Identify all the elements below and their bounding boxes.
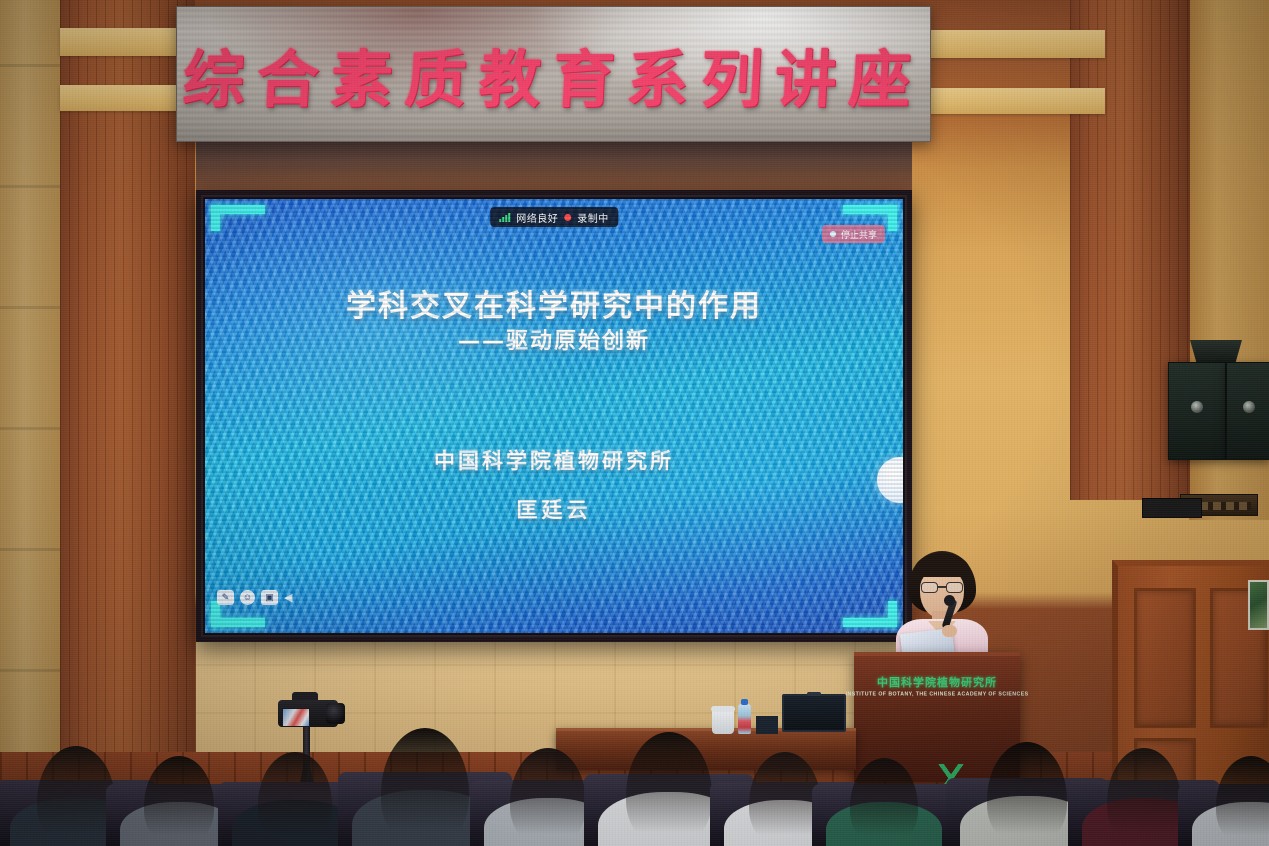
audience-person-head — [749, 752, 821, 846]
microphone-head-icon — [944, 595, 955, 606]
share-border-corner-top-left-v — [211, 205, 220, 231]
audience-person-head — [510, 748, 586, 846]
framed-picture — [1248, 580, 1269, 630]
presenter-hand-mic — [942, 625, 957, 637]
led-display-frame: 网络良好 录制中 停止共享 学科交叉在科学研究中的作用 ——驱动原始创新 中国科… — [196, 190, 912, 642]
exit-sign — [1142, 498, 1202, 518]
audience-person-head — [37, 746, 115, 846]
share-screen-icon — [830, 231, 836, 237]
audience-person-head — [626, 732, 712, 846]
banner-title-text: 综合素质教育系列讲座 — [181, 29, 926, 119]
door-panel-upper-left — [1134, 588, 1196, 728]
annotate-icon[interactable]: ✎ — [217, 590, 234, 605]
expand-caret-icon[interactable]: ◀ — [284, 591, 292, 604]
podium-plaque-english: INSTITUTE OF BOTANY, THE CHINESE ACADEMY… — [846, 691, 1029, 697]
audience-person-head — [987, 742, 1067, 846]
led-display-screen[interactable]: 网络良好 录制中 停止共享 学科交叉在科学研究中的作用 ——驱动原始创新 中国科… — [205, 199, 903, 633]
slide-title: 学科交叉在科学研究中的作用 — [205, 281, 903, 325]
record-dot-icon — [564, 214, 571, 221]
banner-recess-shadow — [196, 142, 912, 190]
slide-speaker-name: 匡廷云 — [205, 494, 903, 524]
speaker-mount-bracket — [1190, 340, 1242, 362]
wood-pillar-left — [60, 0, 195, 770]
wall-panel-far-left — [0, 0, 62, 790]
slide-subtitle: ——驱动原始创新 — [205, 323, 903, 355]
audience-person-head — [1107, 748, 1181, 846]
emoji-icon[interactable]: ☺ — [240, 590, 255, 605]
slide-toolbar[interactable]: ✎ ☺ ▣ ◀ — [217, 590, 292, 605]
glasses-icon — [921, 582, 963, 593]
podium-plaque: 中国科学院植物研究所 INSTITUTE OF BOTANY, THE CHIN… — [874, 668, 1000, 702]
recording-status-label: 录制中 — [577, 210, 609, 225]
signal-bars-icon — [499, 213, 510, 222]
wall-speaker-right — [1226, 362, 1269, 460]
podium-plaque-chinese: 中国科学院植物研究所 — [877, 674, 997, 690]
screen-icon[interactable]: ▣ — [261, 590, 278, 605]
speaker-cone-icon — [1191, 401, 1203, 413]
speaker-cone-icon — [1243, 401, 1255, 413]
meeting-status-bar[interactable]: 网络良好 录制中 — [490, 207, 618, 227]
stop-share-button[interactable]: 停止共享 — [822, 225, 885, 243]
slide-organization: 中国科学院植物研究所 — [205, 445, 903, 475]
pillar-band-right-top — [930, 30, 1105, 58]
audience-person-head — [1216, 756, 1269, 846]
audience-person-head — [258, 752, 332, 846]
lecture-series-banner: 综合素质教育系列讲座 — [176, 6, 931, 142]
audience-row — [0, 716, 1269, 846]
share-border-corner-top-right-v — [888, 205, 897, 231]
presenter-fringe — [914, 553, 970, 577]
wall-speaker-left — [1168, 362, 1226, 460]
stop-share-label: 停止共享 — [841, 228, 877, 241]
audience-person-head — [850, 758, 918, 846]
pillar-band-right-bottom — [930, 88, 1105, 114]
audience-person-head — [381, 728, 469, 846]
audience-person-head — [144, 756, 214, 846]
lecture-hall-photo: 综合素质教育系列讲座 网络良好 录制中 停止共享 学科交叉 — [0, 0, 1269, 846]
network-status-label: 网络良好 — [516, 210, 558, 225]
